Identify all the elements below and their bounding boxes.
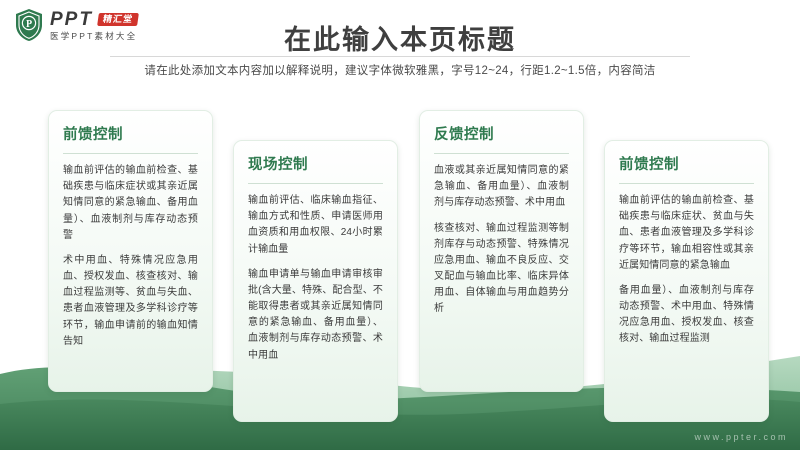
- card-title: 前馈控制: [619, 158, 754, 174]
- content-card-4[interactable]: 前馈控制 输血前评估的输血前检查、基础疾患与临床症状、贫血与失血、患者血液管理及…: [604, 140, 769, 422]
- card-paragraph: 输血申请单与输血申请审核审批(含大量、特殊、配合型、不能取得患者或其亲近属知情同…: [248, 267, 383, 364]
- card-paragraph: 血液或其亲近属知情同意的紧急输血、备用血量）、血液制剂与库存动态预警、术中用血: [434, 163, 569, 212]
- card-paragraph: 核查核对、输血过程监测等制剂库存与动态预警、特殊情况应急用血、输血不良反应、交叉…: [434, 221, 569, 318]
- card-paragraph: 输血前评估、临床输血指征、输血方式和性质、申请医师用血资质和用血权限、24小时累…: [248, 193, 383, 258]
- page-subtitle: 请在此处添加文本内容加以解释说明，建议字体微软雅黑，字号12~24，行距1.2~…: [0, 62, 800, 78]
- site-watermark: www.ppter.com: [694, 432, 788, 442]
- card-title: 现场控制: [248, 158, 383, 174]
- card-title: 前馈控制: [63, 128, 198, 144]
- card-divider: [248, 183, 383, 184]
- title-divider: [110, 56, 690, 57]
- card-title: 反馈控制: [434, 128, 569, 144]
- card-divider: [63, 153, 198, 154]
- card-paragraph: 备用血量）、血液制剂与库存动态预警、术中用血、特殊情况应急用血、授权发血、核查核…: [619, 283, 754, 348]
- content-card-2[interactable]: 现场控制 输血前评估、临床输血指征、输血方式和性质、申请医师用血资质和用血权限、…: [233, 140, 398, 422]
- content-card-3[interactable]: 反馈控制 血液或其亲近属知情同意的紧急输血、备用血量）、血液制剂与库存动态预警、…: [419, 110, 584, 392]
- content-card-1[interactable]: 前馈控制 输血前评估的输血前检查、基础疾患与临床症状或其亲近属知情同意的紧急输血…: [48, 110, 213, 392]
- card-paragraph: 输血前评估的输血前检查、基础疾患与临床症状、贫血与失血、患者血液管理及多学科诊疗…: [619, 193, 754, 274]
- page-title: 在此输入本页标题: [0, 18, 800, 57]
- card-paragraph: 输血前评估的输血前检查、基础疾患与临床症状或其亲近属知情同意的紧急输血、备用血量…: [63, 163, 198, 244]
- card-divider: [434, 153, 569, 154]
- card-paragraph: 术中用血、特殊情况应急用血、授权发血、核查核对、输血过程监测等、贫血与失血、患者…: [63, 253, 198, 350]
- card-divider: [619, 183, 754, 184]
